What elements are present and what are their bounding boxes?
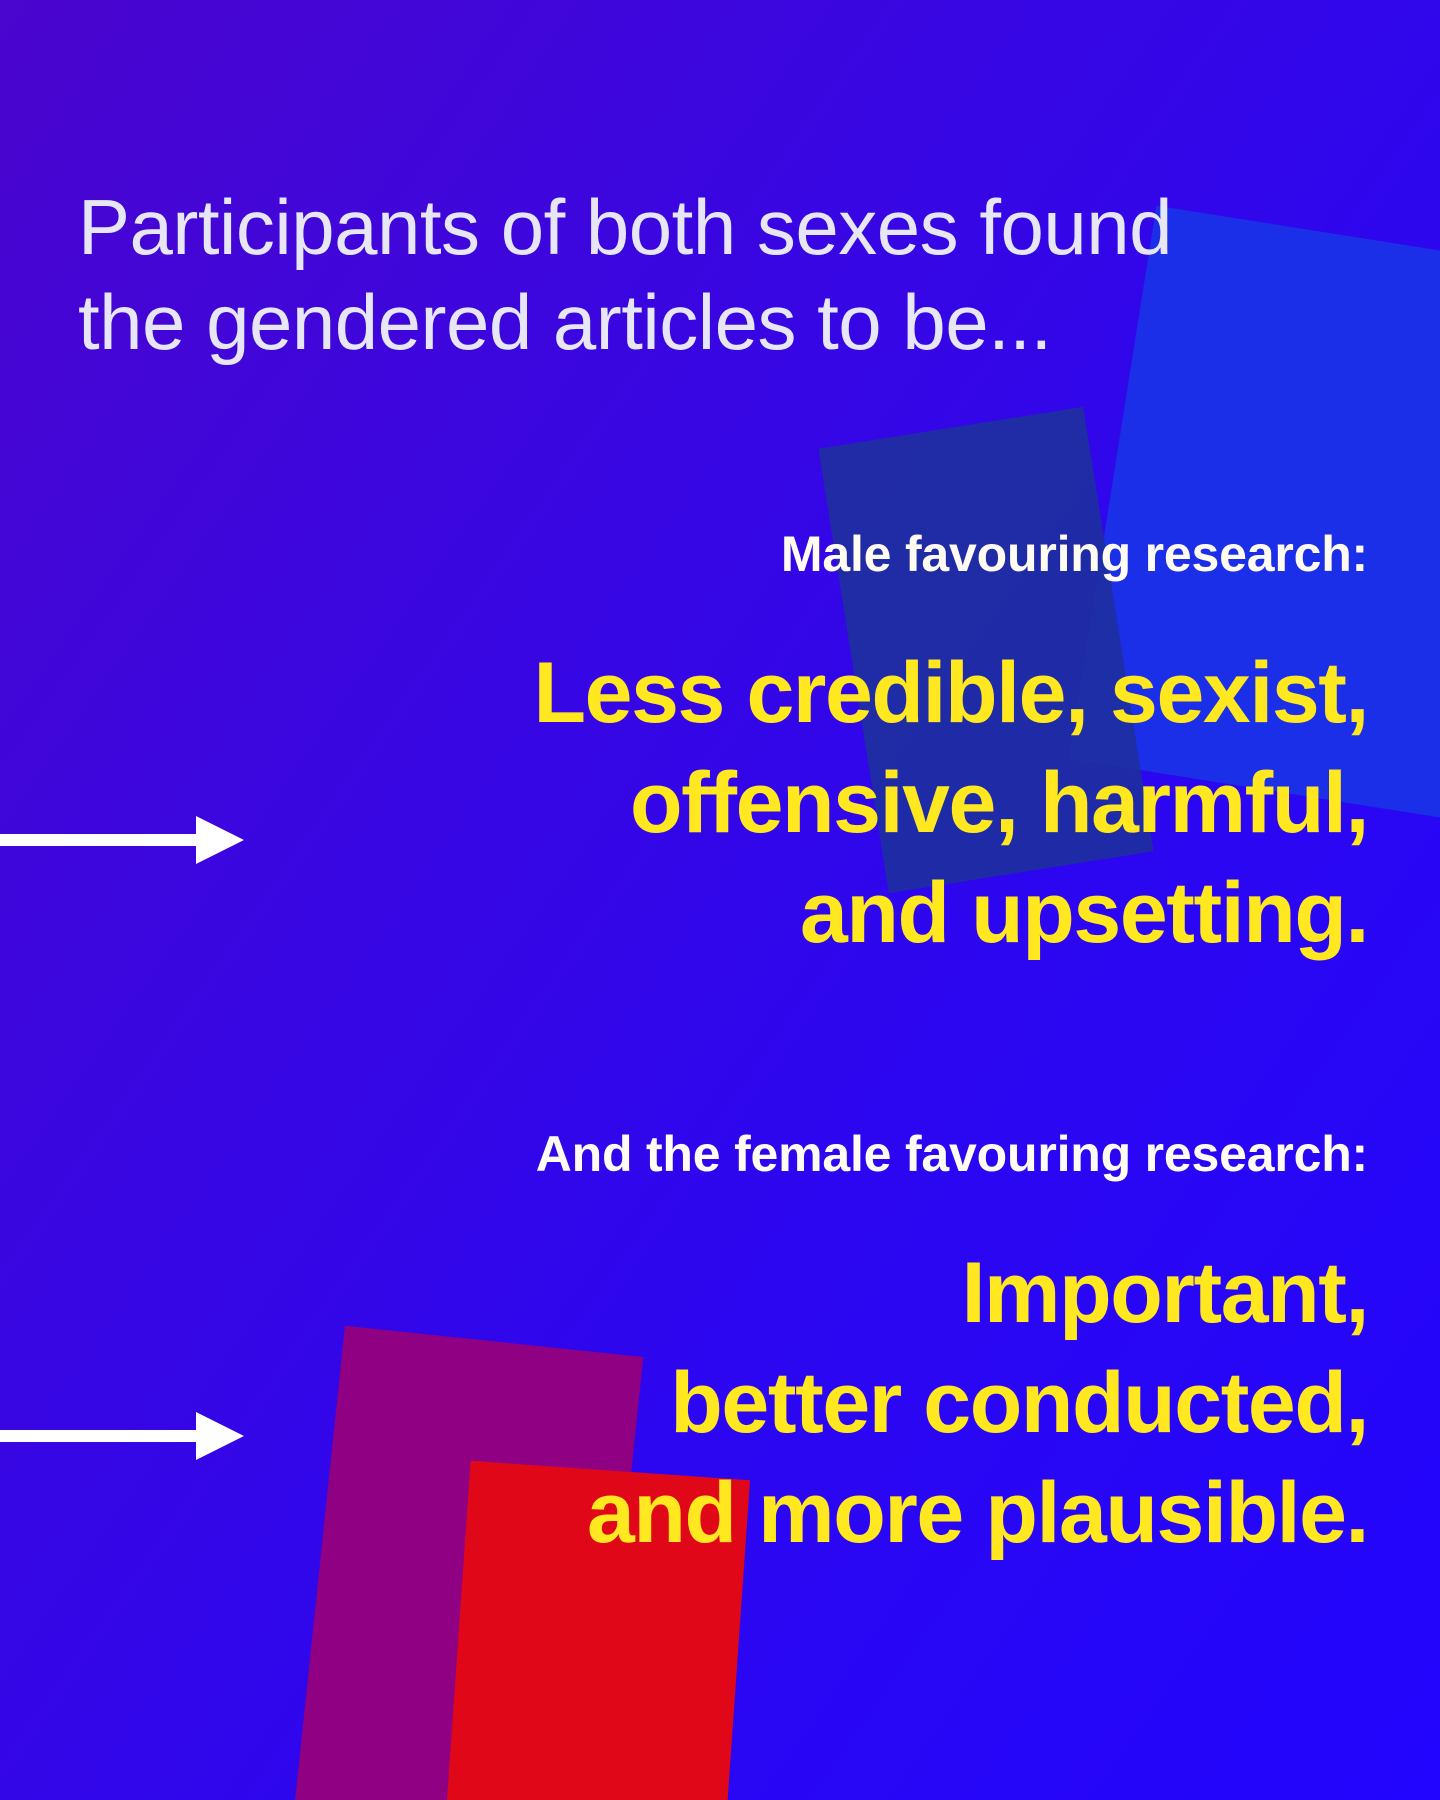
emphasis-male-findings: Less credible, sexist, offensive, harmfu… (72, 638, 1368, 968)
label-male-favouring-research: Male favouring research: (781, 525, 1368, 583)
emphasis-female-findings: Important, better conducted, and more pl… (72, 1238, 1368, 1568)
card-content: Participants of both sexes found the gen… (0, 0, 1440, 1800)
social-card: Participants of both sexes found the gen… (0, 0, 1440, 1800)
page-title: Participants of both sexes found the gen… (78, 180, 1368, 370)
label-female-favouring-research: And the female favouring research: (536, 1125, 1368, 1183)
